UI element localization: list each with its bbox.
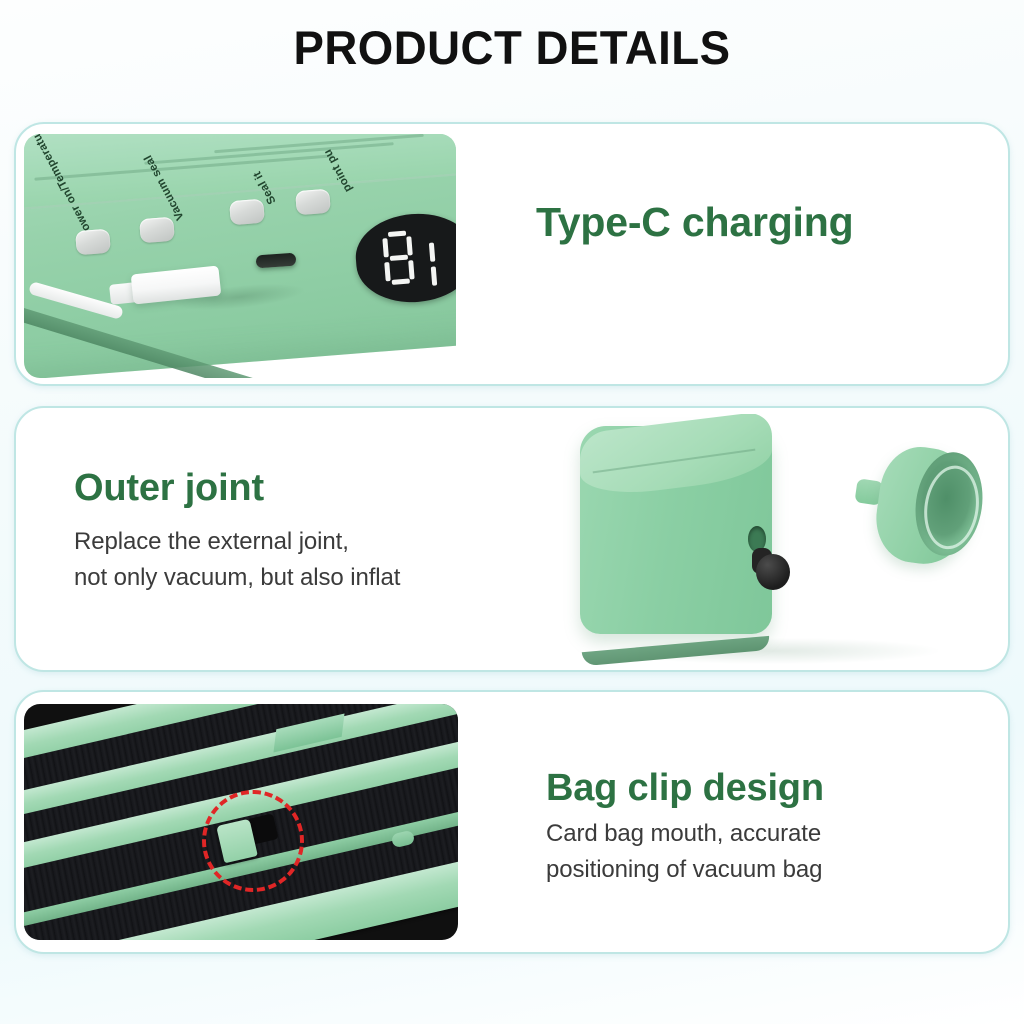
panel-heading-bag-clip-design: Bag clip design (546, 768, 966, 810)
panel-body-line: not only vacuum, but also inflat (74, 560, 524, 596)
control-button-power[interactable] (75, 229, 111, 256)
panel-body-line: Card bag mouth, accurate (546, 816, 966, 852)
panel-heading-type-c-charging: Type-C charging (536, 200, 956, 245)
product-image-type-c-charging: Power on/Temperature Vacuum seal Seal it… (24, 134, 456, 378)
control-button-vacuum-seal[interactable] (139, 217, 175, 244)
product-image-bag-clip-design (24, 704, 458, 940)
page-title: PRODUCT DETAILS (15, 0, 1008, 75)
panel-bag-clip-design: Bag clip design Card bag mouth, accurate… (14, 690, 1010, 954)
panel-text-bag-clip-design: Bag clip design Card bag mouth, accurate… (546, 768, 966, 888)
panel-body-line: positioning of vacuum bag (546, 852, 966, 888)
panel-list: Power on/Temperature Vacuum seal Seal it… (14, 122, 1010, 954)
panel-text-outer-joint: Outer joint Replace the external joint, … (74, 468, 524, 596)
product-image-outer-joint (548, 414, 998, 666)
control-button-point-pump[interactable] (295, 189, 331, 216)
usb-c-port (256, 253, 297, 269)
panel-heading-outer-joint: Outer joint (74, 468, 524, 510)
panel-text-type-c-charging: Type-C charging (536, 200, 956, 245)
panel-type-c-charging: Power on/Temperature Vacuum seal Seal it… (14, 122, 1010, 386)
panel-body-line: Replace the external joint, (74, 524, 524, 560)
control-button-seal-it[interactable] (229, 199, 265, 226)
black-nozzle-plug (756, 554, 790, 590)
panel-outer-joint: Outer joint Replace the external joint, … (14, 406, 1010, 672)
red-dashed-highlight-icon (202, 790, 304, 892)
